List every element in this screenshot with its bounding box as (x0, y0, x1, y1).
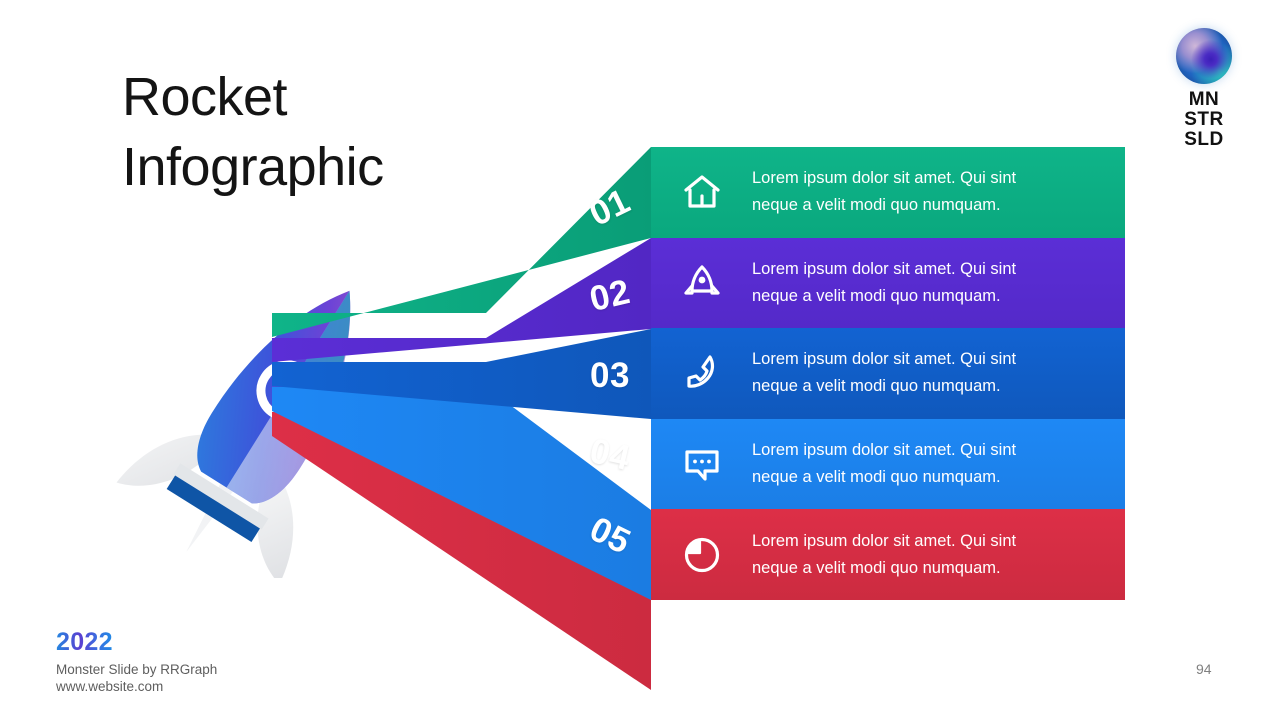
chat-icon (674, 436, 730, 492)
step-bar-05[interactable]: Lorem ipsum dolor sit amet. Qui sint neq… (651, 509, 1125, 600)
page-number: 94 (1196, 661, 1212, 677)
rocket-icon (674, 255, 730, 311)
step-description: Lorem ipsum dolor sit amet. Qui sint neq… (752, 346, 1016, 400)
step-number-03: 03 (590, 356, 630, 396)
step-bar-03[interactable]: Lorem ipsum dolor sit amet. Qui sint neq… (651, 328, 1125, 419)
footer-year: 2022 (56, 628, 113, 657)
phone-icon (674, 345, 730, 401)
trail-04 (272, 387, 651, 600)
step-bar-04[interactable]: Lorem ipsum dolor sit amet. Qui sint neq… (651, 419, 1125, 510)
step-description: Lorem ipsum dolor sit amet. Qui sint neq… (752, 165, 1016, 219)
footer-credit: Monster Slide by RRGraph www.website.com (56, 661, 217, 695)
step-bar-02[interactable]: Lorem ipsum dolor sit amet. Qui sint neq… (651, 238, 1125, 329)
step-description: Lorem ipsum dolor sit amet. Qui sint neq… (752, 528, 1016, 582)
step-description: Lorem ipsum dolor sit amet. Qui sint neq… (752, 437, 1016, 491)
step-bar-01[interactable]: Lorem ipsum dolor sit amet. Qui sint neq… (651, 147, 1125, 238)
slide-canvas: Rocket Infographic MN STR SLD (0, 0, 1280, 720)
pie-chart-icon (674, 527, 730, 583)
step-description: Lorem ipsum dolor sit amet. Qui sint neq… (752, 256, 1016, 310)
home-icon (674, 164, 730, 220)
